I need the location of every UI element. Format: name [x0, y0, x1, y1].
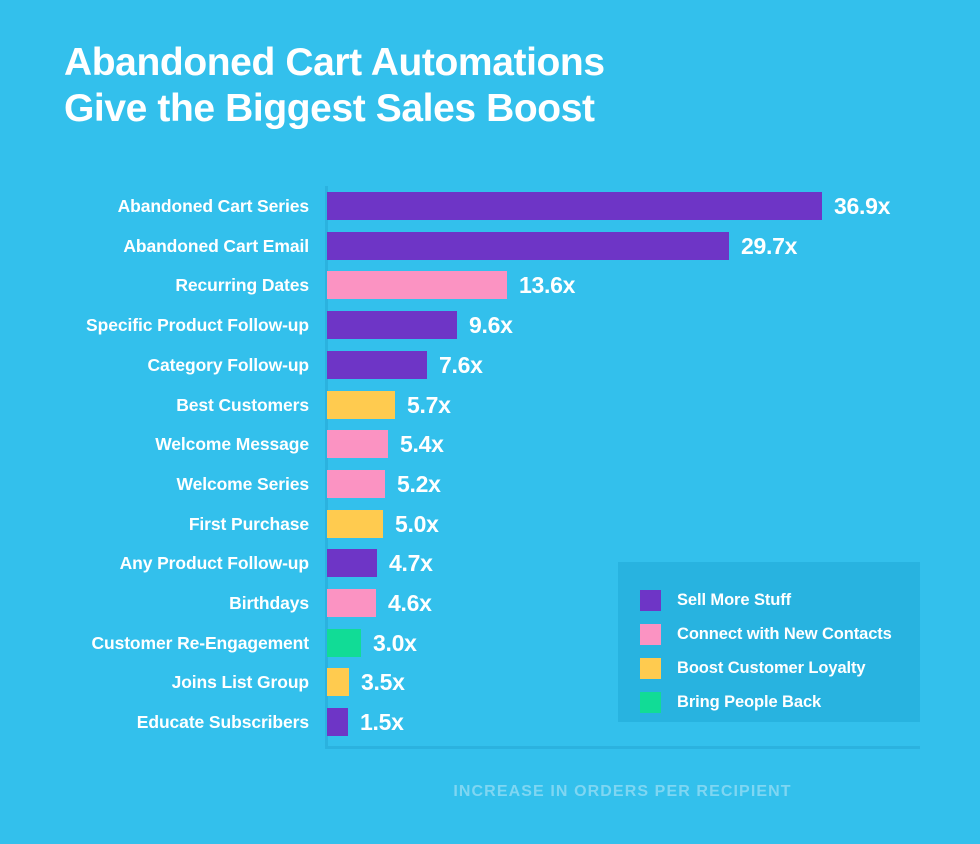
- bar-9.6x: [327, 311, 457, 339]
- bar-value-label: 7.6x: [439, 349, 483, 381]
- bar-4.7x: [327, 549, 377, 577]
- x-axis-caption: INCREASE IN ORDERS PER RECIPIENT: [325, 783, 920, 801]
- bar-category-label: Best Customers: [176, 390, 309, 420]
- legend-label: Connect with New Contacts: [677, 625, 892, 644]
- bar-5.4x: [327, 430, 388, 458]
- bar-category-label: Educate Subscribers: [137, 707, 309, 737]
- bar-row: First Purchase5.0x: [0, 509, 980, 541]
- bar-row: Specific Product Follow-up9.6x: [0, 310, 980, 342]
- bar-row: Category Follow-up7.6x: [0, 350, 980, 382]
- bar-value-label: 1.5x: [360, 706, 404, 738]
- bar-value-label: 29.7x: [741, 230, 797, 262]
- bar-value-label: 36.9x: [834, 190, 890, 222]
- legend-swatch-icon: [640, 590, 661, 611]
- x-axis-line: [325, 746, 920, 749]
- bar-category-label: Customer Re-Engagement: [91, 628, 309, 658]
- bar-3.0x: [327, 629, 361, 657]
- bar-row: Abandoned Cart Email29.7x: [0, 231, 980, 263]
- bar-1.5x: [327, 708, 348, 736]
- legend-label: Bring People Back: [677, 693, 821, 712]
- bar-4.6x: [327, 589, 376, 617]
- bar-category-label: Welcome Message: [155, 429, 309, 459]
- bar-value-label: 5.0x: [395, 508, 439, 540]
- bar-value-label: 4.7x: [389, 547, 433, 579]
- bar-5.0x: [327, 510, 383, 538]
- legend-item[interactable]: Boost Customer Loyalty: [640, 652, 920, 684]
- legend-swatch-icon: [640, 658, 661, 679]
- bar-category-label: Abandoned Cart Email: [123, 231, 309, 261]
- bar-value-label: 3.5x: [361, 666, 405, 698]
- bar-value-label: 9.6x: [469, 309, 513, 341]
- bar-row: Abandoned Cart Series36.9x: [0, 191, 980, 223]
- legend-item[interactable]: Bring People Back: [640, 686, 920, 718]
- bar-category-label: Any Product Follow-up: [120, 548, 309, 578]
- bar-category-label: Abandoned Cart Series: [118, 191, 309, 221]
- bar-value-label: 13.6x: [519, 269, 575, 301]
- bar-5.2x: [327, 470, 385, 498]
- bar-value-label: 5.4x: [400, 428, 444, 460]
- bar-row: Best Customers5.7x: [0, 390, 980, 422]
- bar-category-label: First Purchase: [189, 509, 309, 539]
- bar-row: Recurring Dates13.6x: [0, 270, 980, 302]
- bar-category-label: Recurring Dates: [175, 270, 309, 300]
- bar-value-label: 5.7x: [407, 389, 451, 421]
- bar-29.7x: [327, 232, 729, 260]
- legend-label: Boost Customer Loyalty: [677, 659, 866, 678]
- legend-swatch-icon: [640, 692, 661, 713]
- legend-item[interactable]: Connect with New Contacts: [640, 618, 920, 650]
- bar-36.9x: [327, 192, 822, 220]
- bar-7.6x: [327, 351, 427, 379]
- legend-swatch-icon: [640, 624, 661, 645]
- bar-category-label: Birthdays: [229, 588, 309, 618]
- legend-item[interactable]: Sell More Stuff: [640, 584, 920, 616]
- bar-3.5x: [327, 668, 349, 696]
- bar-category-label: Specific Product Follow-up: [86, 310, 309, 340]
- infographic-canvas: Abandoned Cart Automations Give the Bigg…: [0, 0, 980, 844]
- bar-row: Welcome Message5.4x: [0, 429, 980, 461]
- bar-category-label: Joins List Group: [172, 667, 309, 697]
- bar-row: Welcome Series5.2x: [0, 469, 980, 501]
- bar-category-label: Welcome Series: [176, 469, 309, 499]
- bar-value-label: 5.2x: [397, 468, 441, 500]
- bar-category-label: Category Follow-up: [147, 350, 309, 380]
- bar-5.7x: [327, 391, 395, 419]
- bar-value-label: 4.6x: [388, 587, 432, 619]
- bar-13.6x: [327, 271, 507, 299]
- chart-legend: Sell More StuffConnect with New Contacts…: [618, 562, 920, 722]
- legend-label: Sell More Stuff: [677, 591, 791, 610]
- bar-value-label: 3.0x: [373, 627, 417, 659]
